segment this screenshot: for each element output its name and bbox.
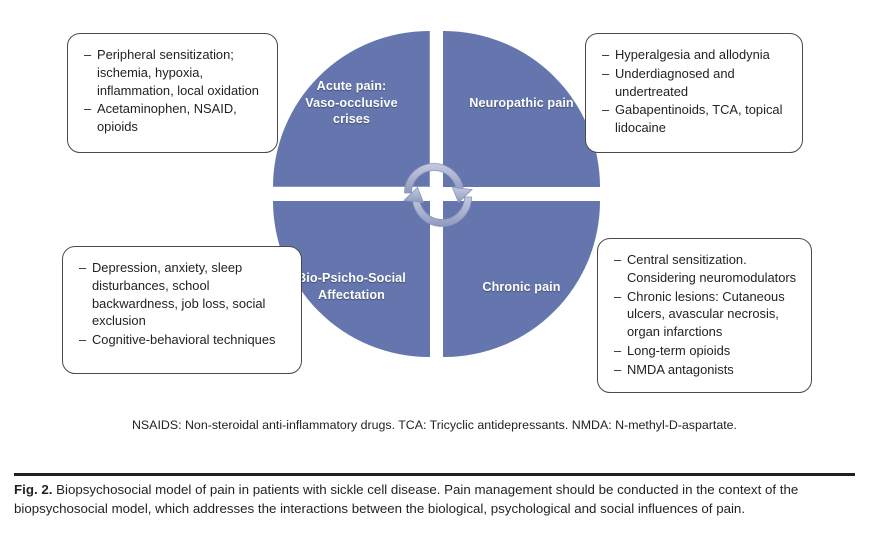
list-item: Central sensitization. Considering neuro… <box>614 251 797 287</box>
info-box-bio-psycho-social: Depression, anxiety, sleep disturbances,… <box>62 246 302 374</box>
list-item: Hyperalgesia and allodynia <box>602 46 788 64</box>
list-item: Long-term opioids <box>614 342 797 360</box>
quadrant-acute-pain[interactable]: Acute pain:Vaso-occlusivecrises <box>273 31 430 187</box>
figure-caption: Fig. 2. Biopsychosocial model of pain in… <box>14 481 857 519</box>
caption-text: Biopsychosocial model of pain in patient… <box>14 482 798 516</box>
abbreviation-note: NSAIDS: Non-steroidal anti-inflammatory … <box>0 418 869 432</box>
info-list-bio-psycho-social: Depression, anxiety, sleep disturbances,… <box>79 259 287 349</box>
info-box-chronic-pain: Central sensitization. Considering neuro… <box>597 238 812 393</box>
caption-divider <box>14 473 855 476</box>
quadrant-circle: Acute pain:Vaso-occlusivecrises Neuropat… <box>273 31 600 357</box>
list-item: Gabapentinoids, TCA, topical lidocaine <box>602 101 788 137</box>
quadrant-neuropathic-pain[interactable]: Neuropathic pain <box>443 31 600 187</box>
quadrant-chronic-pain[interactable]: Chronic pain <box>443 201 600 357</box>
figure-number: Fig. 2. <box>14 482 52 497</box>
list-item: Peripheral sensitization; ischemia, hypo… <box>84 46 263 99</box>
quadrant-neuropathic-pain-label: Neuropathic pain <box>459 95 583 112</box>
info-list-neuropathic-pain: Hyperalgesia and allodynia Underdiagnose… <box>602 46 788 137</box>
info-box-acute-pain: Peripheral sensitization; ischemia, hypo… <box>67 33 278 153</box>
list-item: Chronic lesions: Cutaneous ulcers, avasc… <box>614 288 797 341</box>
quadrant-chronic-pain-label: Chronic pain <box>472 279 570 296</box>
info-list-acute-pain: Peripheral sensitization; ischemia, hypo… <box>84 46 263 136</box>
list-item: Cognitive-behavioral techniques <box>79 331 287 349</box>
quadrant-bio-psycho-social-label: Bio-Psicho-SocialAffectation <box>287 270 416 303</box>
list-item: Acetaminophen, NSAID, opioids <box>84 100 263 136</box>
info-list-chronic-pain: Central sensitization. Considering neuro… <box>614 251 797 379</box>
quadrant-acute-pain-label: Acute pain:Vaso-occlusivecrises <box>295 78 407 128</box>
list-item: Depression, anxiety, sleep disturbances,… <box>79 259 287 330</box>
info-box-neuropathic-pain: Hyperalgesia and allodynia Underdiagnose… <box>585 33 803 153</box>
list-item: NMDA antagonists <box>614 361 797 379</box>
list-item: Underdiagnosed and undertreated <box>602 65 788 101</box>
figure-area: Acute pain:Vaso-occlusivecrises Neuropat… <box>0 0 869 470</box>
